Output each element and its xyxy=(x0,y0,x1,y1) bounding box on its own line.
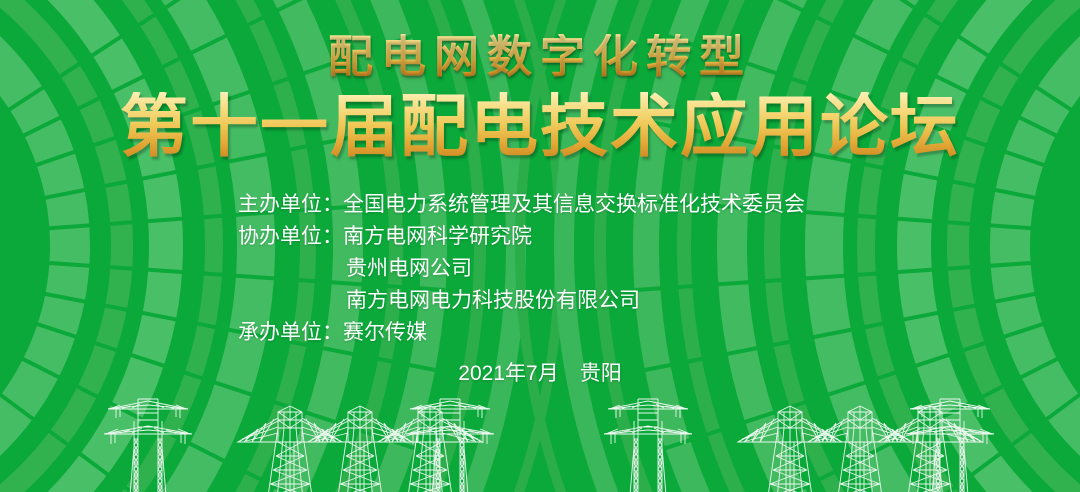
organizer-label: 主办单位： xyxy=(238,193,343,216)
organizer-row: 承办单位：赛尔传媒 xyxy=(238,317,805,349)
organizer-row: 主办单位：全国电力系统管理及其信息交换标准化技术委员会 xyxy=(238,189,805,221)
organizer-value: 南方电网电力科技股份有限公司 xyxy=(346,289,640,312)
organizer-label: 承办单位： xyxy=(238,321,343,344)
poster-main-title: 第十一届配电技术应用论坛 xyxy=(0,92,1080,163)
event-date-location: 2021年7月 贵阳 xyxy=(0,363,1080,384)
organizer-value: 全国电力系统管理及其信息交换标准化技术委员会 xyxy=(343,193,805,216)
organizer-value: 贵州电网公司 xyxy=(346,257,472,280)
poster-content: 配电网数字化转型 第十一届配电技术应用论坛 主办单位：全国电力系统管理及其信息交… xyxy=(0,0,1080,492)
organizer-value: 赛尔传媒 xyxy=(343,321,427,344)
organizer-list: 主办单位：全国电力系统管理及其信息交换标准化技术委员会 协办单位：南方电网科学研… xyxy=(238,189,805,349)
organizer-row: 协办单位：南方电网科学研究院 xyxy=(238,221,805,253)
organizer-row: 南方电网电力科技股份有限公司 xyxy=(238,285,805,317)
organizer-row: 贵州电网公司 xyxy=(238,253,805,285)
organizer-label: 协办单位： xyxy=(238,225,343,248)
organizer-value: 南方电网科学研究院 xyxy=(343,225,532,248)
conference-poster: 配电网数字化转型 第十一届配电技术应用论坛 主办单位：全国电力系统管理及其信息交… xyxy=(0,0,1080,492)
poster-subtitle: 配电网数字化转型 xyxy=(0,34,1080,79)
